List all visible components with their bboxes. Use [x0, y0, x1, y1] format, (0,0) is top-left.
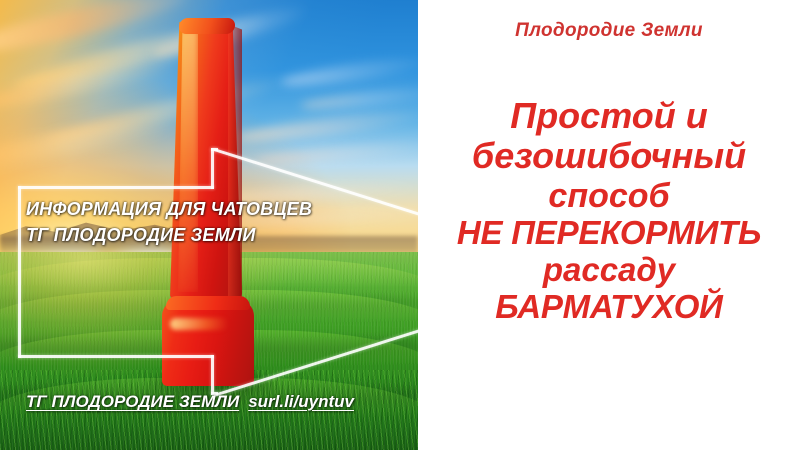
headline-line-3: способ	[426, 177, 792, 215]
brand-title: Плодородие Земли	[418, 20, 800, 42]
headline-line-5: рассаду	[426, 252, 792, 289]
headline-line-2: безошибочный	[426, 136, 792, 176]
promo-poster: ИНФОРМАЦИЯ ДЛЯ ЧАТОВЦЕВ ТГ ПЛОДОРОДИЕ ЗЕ…	[0, 0, 800, 450]
photo-footer: ТГ ПЛОДОРОДИЕ ЗЕМЛИsurl.li/uyntuv	[26, 392, 354, 412]
promo-photo: ИНФОРМАЦИЯ ДЛЯ ЧАТОВЦЕВ ТГ ПЛОДОРОДИЕ ЗЕ…	[0, 0, 418, 450]
text-panel: Плодородие Земли Простой и безошибочный …	[418, 0, 800, 450]
photo-caption: ИНФОРМАЦИЯ ДЛЯ ЧАТОВЦЕВ ТГ ПЛОДОРОДИЕ ЗЕ…	[26, 196, 406, 248]
photo-caption-line-2: ТГ ПЛОДОРОДИЕ ЗЕМЛИ	[26, 222, 406, 248]
headline-block: Простой и безошибочный способ НЕ ПЕРЕКОР…	[426, 96, 792, 326]
footer-channel-label: ТГ ПЛОДОРОДИЕ ЗЕМЛИ	[26, 392, 239, 411]
headline-line-6: БАРМАТУХОЙ	[426, 289, 792, 326]
field-sunlight-wash	[0, 252, 300, 382]
footer-url-link[interactable]: surl.li/uyntuv	[248, 392, 354, 411]
headline-line-1: Простой и	[426, 96, 792, 136]
photo-caption-line-1: ИНФОРМАЦИЯ ДЛЯ ЧАТОВЦЕВ	[26, 196, 406, 222]
headline-line-4: НЕ ПЕРЕКОРМИТЬ	[426, 215, 792, 252]
